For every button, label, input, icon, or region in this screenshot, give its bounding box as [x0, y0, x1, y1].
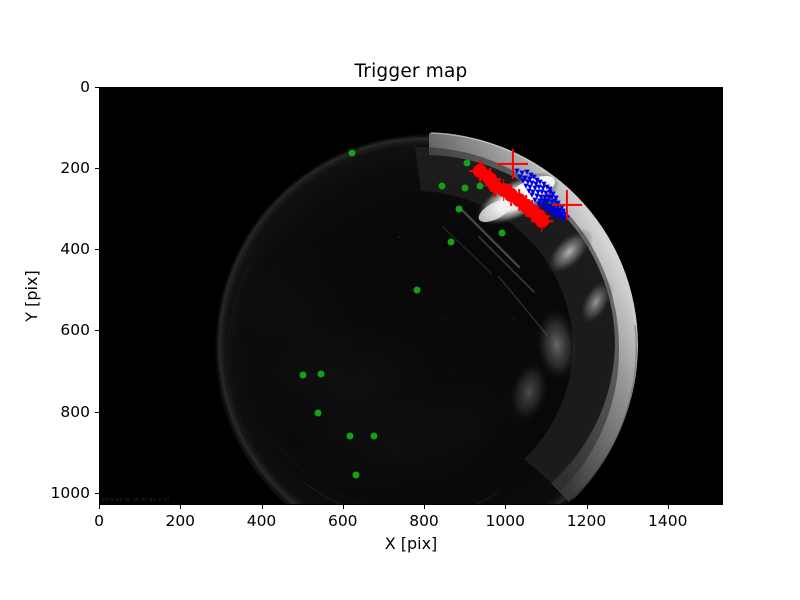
x-tick-1200: 1200 [567, 512, 606, 530]
y-tickmark-0 [95, 87, 99, 88]
y-tickmark-1000 [95, 493, 99, 494]
x-axis-label: X [pix] [99, 534, 723, 553]
y-tick-0: 0 [40, 78, 90, 96]
x-tickmark-1200 [587, 505, 588, 509]
x-tick-200: 200 [165, 512, 195, 530]
y-tick-400: 400 [40, 240, 90, 258]
x-tickmark-200 [180, 505, 181, 509]
y-axis-label: Y [pix] [22, 87, 44, 505]
x-tick-600: 600 [328, 512, 358, 530]
x-tickmark-800 [424, 505, 425, 509]
plot-area[interactable]: 2014-03-20 19:02:41.0 UT [99, 87, 723, 505]
x-tickmark-400 [262, 505, 263, 509]
x-tick-1000: 1000 [486, 512, 525, 530]
y-tickmark-800 [95, 412, 99, 413]
figure-canvas: Trigger map [0, 0, 800, 600]
y-tick-600: 600 [40, 321, 90, 339]
y-tickmark-200 [95, 168, 99, 169]
x-tick-0: 0 [94, 512, 104, 530]
chart-title: Trigger map [99, 61, 723, 82]
y-tickmark-600 [95, 330, 99, 331]
y-tick-800: 800 [40, 403, 90, 421]
embedded-timestamp: 2014-03-20 19:02:41.0 UT [102, 497, 170, 502]
x-tickmark-1000 [505, 505, 506, 509]
x-tickmark-1400 [668, 505, 669, 509]
x-tickmark-0 [99, 505, 100, 509]
y-tick-1000: 1000 [40, 484, 90, 502]
x-tickmark-600 [343, 505, 344, 509]
lunar-limb-image [99, 87, 723, 505]
x-tick-400: 400 [247, 512, 277, 530]
x-tick-800: 800 [409, 512, 439, 530]
x-tick-1400: 1400 [648, 512, 687, 530]
y-tickmark-400 [95, 249, 99, 250]
y-tick-200: 200 [40, 159, 90, 177]
